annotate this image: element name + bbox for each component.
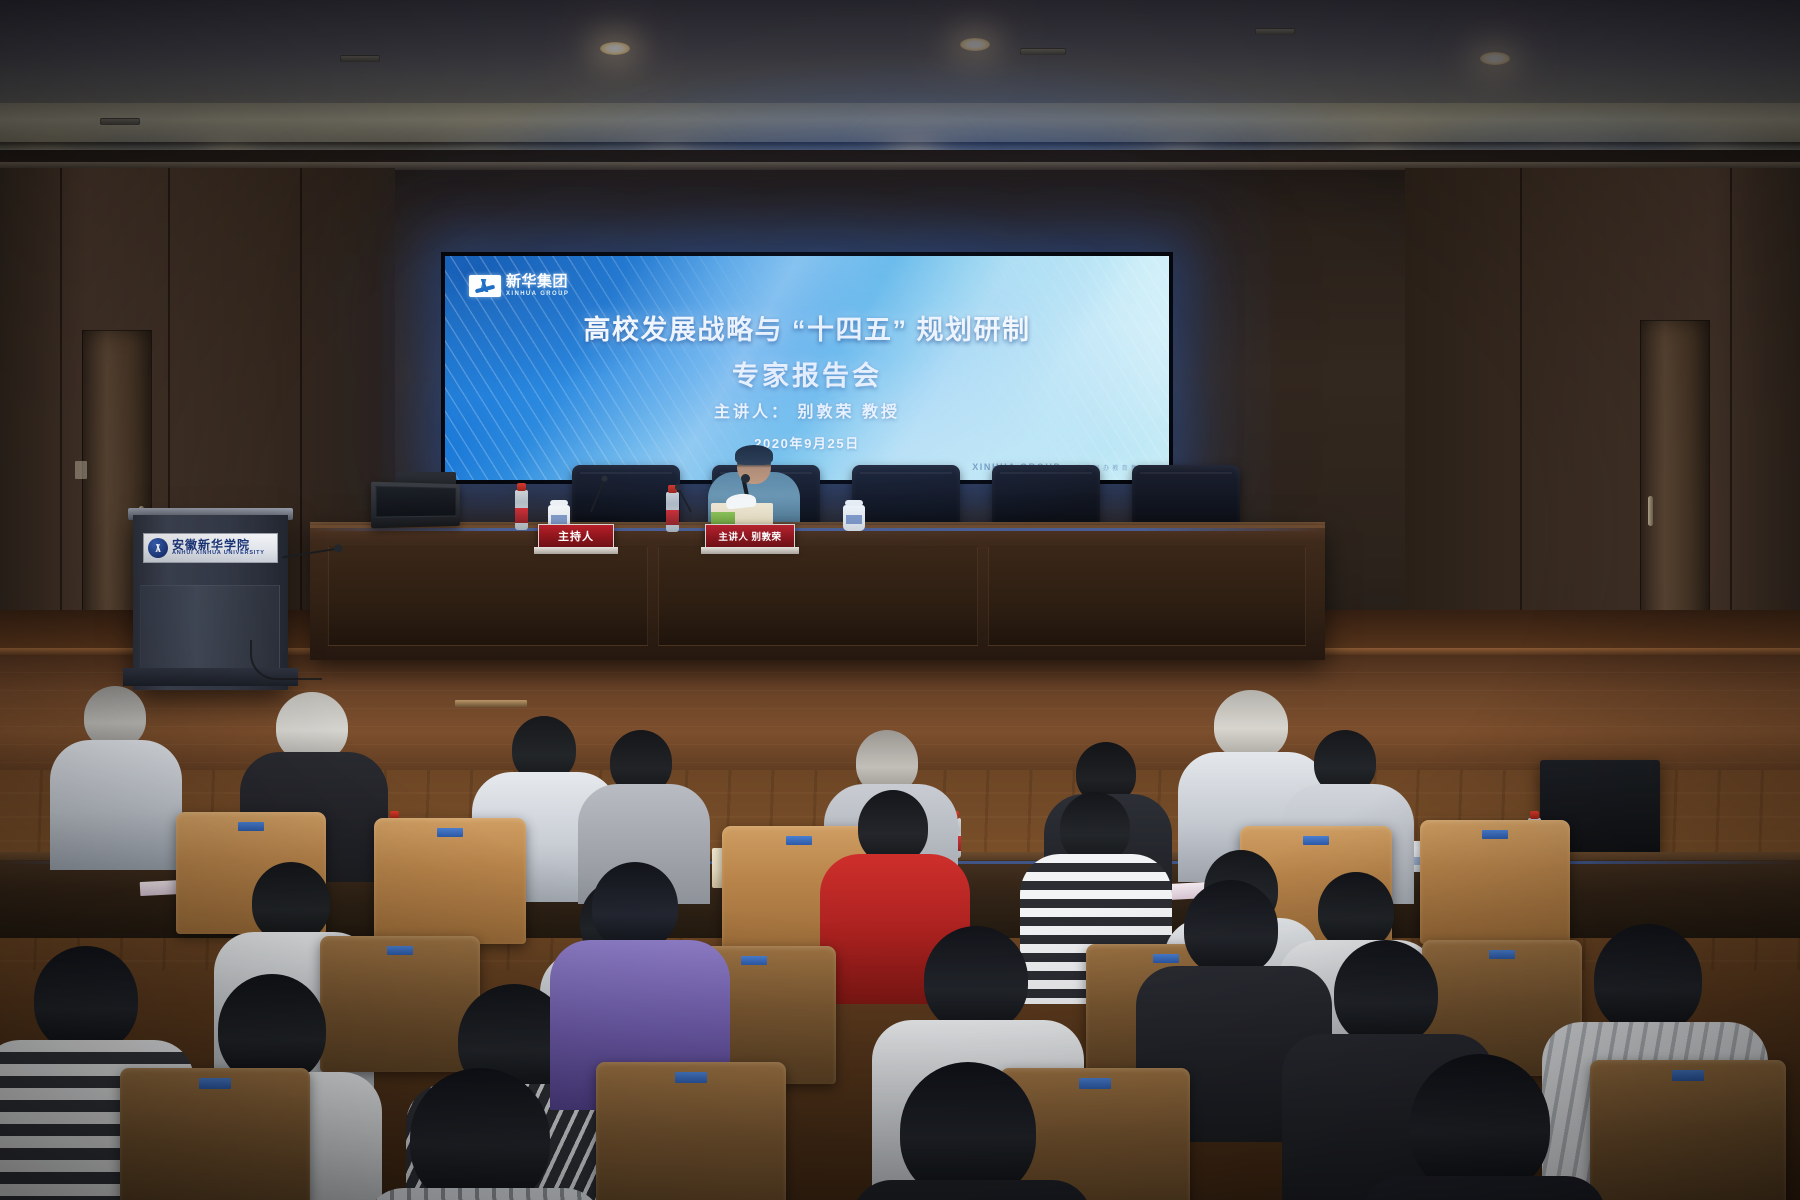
- water-bottle: [666, 492, 679, 532]
- led-screen: 新华集团 XINHUA GROUP 高校发展战略与 “十四五” 规划研制 专家报…: [441, 252, 1173, 484]
- stage-floor-vent: [455, 700, 527, 707]
- ac-vent: [1255, 28, 1295, 35]
- audience-head: [1214, 690, 1288, 760]
- ceiling-downlight: [600, 42, 630, 55]
- audience-head: [252, 862, 330, 942]
- floor-cable: [250, 640, 322, 680]
- microphone-capsule: [741, 474, 750, 483]
- audience-head: [1318, 872, 1394, 950]
- nameplate-moderator: 主持人: [538, 524, 614, 548]
- seat-number-tag: [238, 822, 264, 831]
- ceiling-downlight: [1480, 52, 1510, 65]
- slide-brand-logo: 新华集团 XINHUA GROUP: [469, 274, 569, 297]
- audience-shoulders: [50, 740, 182, 870]
- slide-logo-cn: 新华集团: [506, 274, 569, 289]
- ac-vent: [340, 55, 380, 62]
- slide-title-line-1: 高校发展战略与 “十四五” 规划研制: [473, 308, 1141, 347]
- seat-number-tag: [1489, 950, 1515, 959]
- nameplate-speaker: 主讲人 别敦荣: [705, 524, 795, 548]
- speaker-hair: [735, 445, 773, 465]
- ceiling-downlight: [960, 38, 990, 51]
- head-table-panel: [988, 546, 1306, 646]
- audience-head: [410, 1068, 550, 1200]
- head-table-chair: [572, 465, 680, 527]
- seat-number-tag: [1303, 836, 1329, 845]
- lecture-hall-photo: 新华集团 XINHUA GROUP 高校发展战略与 “十四五” 规划研制 专家报…: [0, 0, 1800, 1200]
- audience-head: [1184, 880, 1278, 976]
- auditorium-seat[interactable]: [1420, 820, 1570, 944]
- ac-vent: [1020, 48, 1066, 55]
- seat-number-tag: [675, 1072, 707, 1083]
- presentation-slide: 新华集团 XINHUA GROUP 高校发展战略与 “十四五” 规划研制 专家报…: [445, 256, 1169, 480]
- slide-logo-en: XINHUA GROUP: [506, 291, 569, 297]
- door-handle-icon: [1648, 496, 1653, 526]
- head-table-panel: [328, 546, 648, 646]
- head-table-chair: [852, 465, 960, 527]
- auditorium-seat[interactable]: [596, 1062, 786, 1200]
- tea-cup: [843, 505, 865, 531]
- seat-number-tag: [1482, 830, 1508, 839]
- head-table-panel: [658, 546, 978, 646]
- laptop-screen: [375, 486, 456, 518]
- audience-head: [34, 946, 138, 1052]
- auditorium-seat[interactable]: [1590, 1060, 1786, 1200]
- seat-number-tag: [1079, 1078, 1111, 1089]
- seat-number-tag: [786, 836, 812, 845]
- ac-vent: [100, 118, 140, 125]
- seat-number-tag: [741, 956, 767, 965]
- tea-cup-band: [551, 515, 567, 524]
- head-table-edge-light: [310, 528, 1325, 531]
- laptop-computer[interactable]: [371, 482, 460, 529]
- audience-shoulders: [364, 1188, 604, 1200]
- audience-shoulders: [1362, 1176, 1606, 1200]
- audience-head: [858, 790, 928, 864]
- slide-date-line: 2020年9月25日: [445, 433, 1169, 452]
- xinhua-swoosh-icon: [469, 275, 501, 297]
- audience-head: [1334, 940, 1438, 1046]
- auditorium-seat[interactable]: [320, 936, 480, 1072]
- slide-title-block: 高校发展战略与 “十四五” 规划研制 专家报告会: [445, 308, 1169, 393]
- podium-plate-en: ANHUI XINHUA UNIVERSITY: [172, 551, 265, 557]
- audience-head: [1410, 1054, 1550, 1196]
- nameplate-base: [701, 547, 799, 554]
- slide-title-line-2: 专家报告会: [473, 354, 1141, 393]
- tea-cup-band: [846, 515, 862, 524]
- head-table: [310, 525, 1325, 660]
- auditorium-seat[interactable]: [374, 818, 526, 944]
- water-bottle: [515, 490, 528, 530]
- audience-shoulders: [852, 1180, 1092, 1200]
- seat-number-tag: [437, 828, 463, 837]
- seat-number-tag: [1153, 954, 1179, 963]
- nameplate-moderator-label: 主持人: [558, 528, 594, 544]
- head-table-chair: [992, 465, 1100, 527]
- audience-head: [1594, 924, 1702, 1034]
- audience-head: [84, 686, 146, 748]
- nameplate-speaker-label: 主讲人 别敦荣: [718, 529, 781, 543]
- anhui-xinhua-university-seal-icon: [148, 538, 168, 558]
- slide-speaker-line: 主讲人： 别敦荣 教授: [445, 398, 1169, 422]
- auditorium-seat[interactable]: [120, 1068, 310, 1200]
- nameplate-base: [534, 547, 618, 554]
- audience-head: [592, 862, 678, 950]
- podium-university-plate: 安徽新华学院 ANHUI XINHUA UNIVERSITY: [143, 533, 278, 563]
- seat-number-tag: [387, 946, 413, 955]
- door-lock-plate: [75, 461, 87, 479]
- seat-number-tag: [1672, 1070, 1704, 1081]
- audience-head: [924, 926, 1028, 1032]
- seat-number-tag: [199, 1078, 231, 1089]
- head-table-chair: [1132, 465, 1240, 527]
